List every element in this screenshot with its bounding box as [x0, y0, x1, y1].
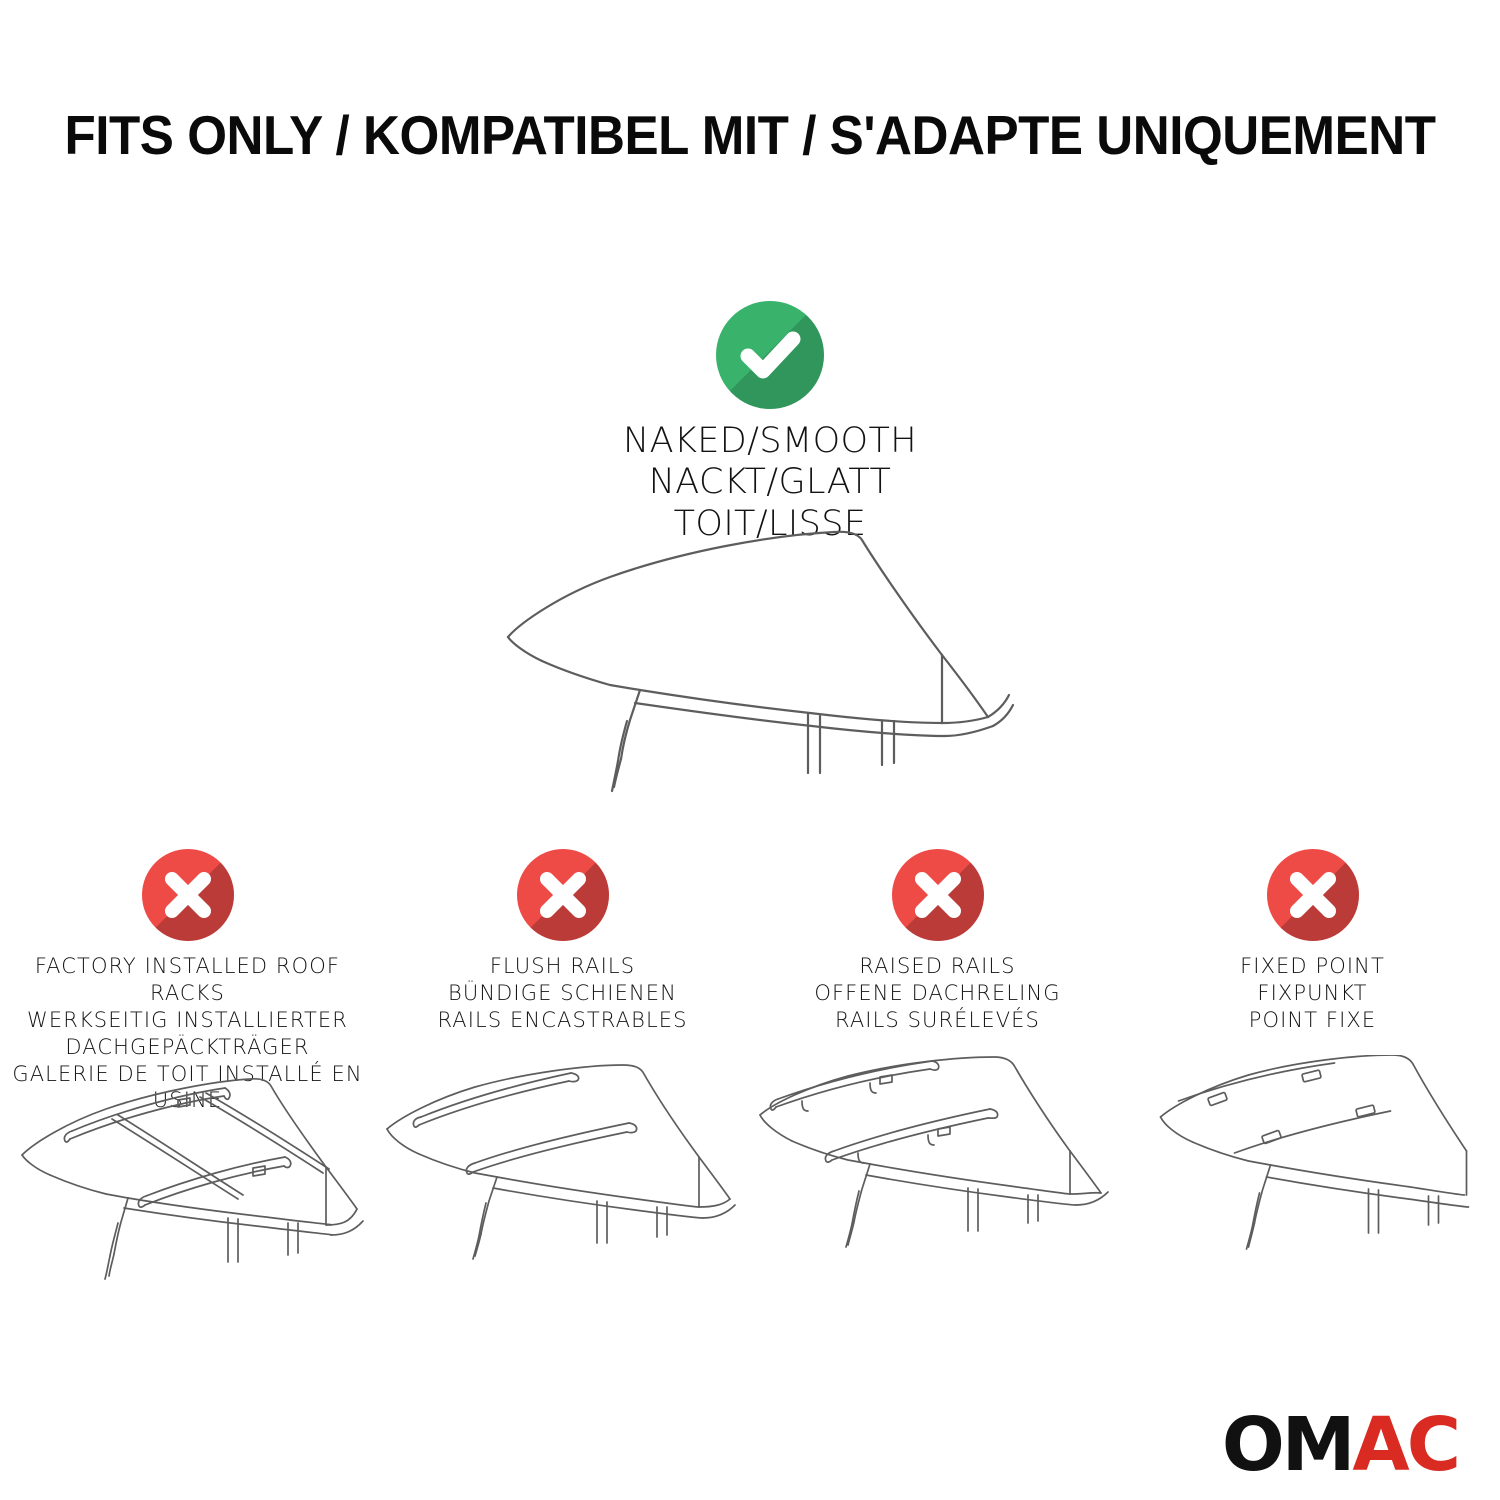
car-roof-naked-smooth-illustration	[490, 515, 1060, 805]
compatible-label-line-1: NAKED/SMOOTH	[450, 421, 1090, 462]
x-circle-icon	[142, 849, 234, 941]
incompatible-labels: RAISED RAILS OFFENE DACHRELING RAILS SUR…	[814, 953, 1060, 1034]
label-line-1: RAISED RAILS	[814, 953, 1060, 980]
incompatible-icon-wrap	[142, 845, 234, 945]
incompatible-icon-wrap	[1267, 845, 1359, 945]
car-roof-raised-rails-illustration	[750, 1055, 1125, 1290]
incompatible-icon-wrap	[517, 845, 609, 945]
car-roof-factory-rack-illustration	[0, 1055, 375, 1290]
compatible-roof-type: NAKED/SMOOTH NACKT/GLATT TOIT/LISSE	[450, 295, 1090, 545]
x-circle-icon	[892, 849, 984, 941]
car-roof-fixed-point-illustration	[1125, 1055, 1500, 1290]
label-line-1: FLUSH RAILS	[437, 953, 687, 980]
label-line-3: RAILS SURÉLEVÉS	[814, 1007, 1060, 1034]
incompatible-icon-wrap	[892, 845, 984, 945]
compatible-label-line-2: NACKT/GLATT	[450, 462, 1090, 503]
logo-text-om: OM	[1222, 1402, 1353, 1488]
omac-logo: OMAC	[1222, 1408, 1458, 1482]
label-line-3: POINT FIXE	[1240, 1007, 1385, 1034]
incompatible-labels: FLUSH RAILS BÜNDIGE SCHIENEN RAILS ENCAS…	[437, 953, 687, 1034]
label-line-2: OFFENE DACHRELING	[814, 980, 1060, 1007]
label-line-2: BÜNDIGE SCHIENEN	[437, 980, 687, 1007]
check-circle-icon	[716, 301, 824, 409]
fitment-infographic: FITS ONLY / KOMPATIBEL MIT / S'ADAPTE UN…	[0, 0, 1500, 1500]
x-circle-icon	[1267, 849, 1359, 941]
compatible-icon-wrap	[450, 295, 1090, 415]
incompatible-illustrations	[0, 1055, 1500, 1290]
label-line-2: FIXPUNKT	[1240, 980, 1385, 1007]
car-roof-flush-rails-illustration	[375, 1055, 750, 1290]
page-title: FITS ONLY / KOMPATIBEL MIT / S'ADAPTE UN…	[53, 103, 1448, 167]
label-line-3: RAILS ENCASTRABLES	[437, 1007, 687, 1034]
logo-text-ac: AC	[1352, 1402, 1458, 1488]
label-line-1: FACTORY INSTALLED ROOF RACKS	[0, 953, 375, 1007]
x-circle-icon	[517, 849, 609, 941]
incompatible-labels: FIXED POINT FIXPUNKT POINT FIXE	[1240, 953, 1385, 1034]
label-line-2: WERKSEITIG INSTALLIERTER	[0, 1007, 375, 1034]
label-line-1: FIXED POINT	[1240, 953, 1385, 980]
